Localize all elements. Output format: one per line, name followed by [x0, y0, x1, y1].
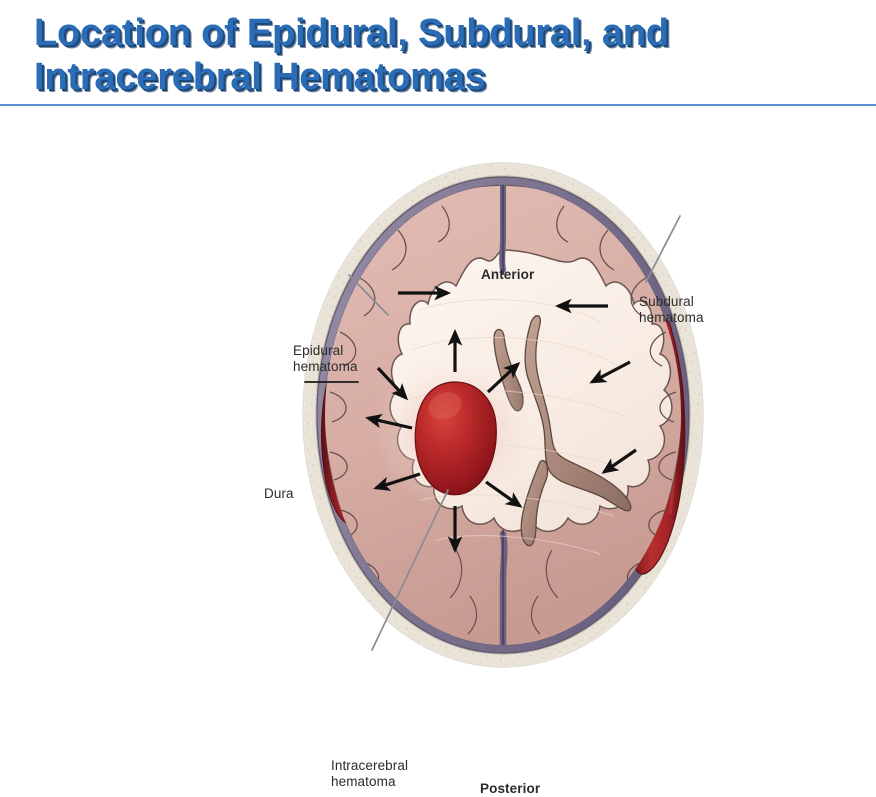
brain-cross-section-figure: Anterior Subdural hematoma Epidural hema… [0, 110, 876, 691]
label-posterior: Posterior [480, 781, 540, 797]
label-intracerebral-hematoma: Intracerebral hematoma [331, 758, 408, 791]
title-divider [0, 104, 876, 106]
title-block: Location of Epidural, Subdural, and Intr… [0, 0, 876, 107]
brain-diagram-svg [0, 110, 876, 691]
page-title: Location of Epidural, Subdural, and Intr… [34, 11, 854, 99]
slide: Location of Epidural, Subdural, and Intr… [0, 0, 876, 691]
label-epidural-hematoma: Epidural hematoma [293, 343, 358, 376]
label-subdural-hematoma: Subdural hematoma [639, 294, 704, 327]
label-dura: Dura [264, 486, 294, 502]
label-anterior: Anterior [481, 267, 534, 283]
